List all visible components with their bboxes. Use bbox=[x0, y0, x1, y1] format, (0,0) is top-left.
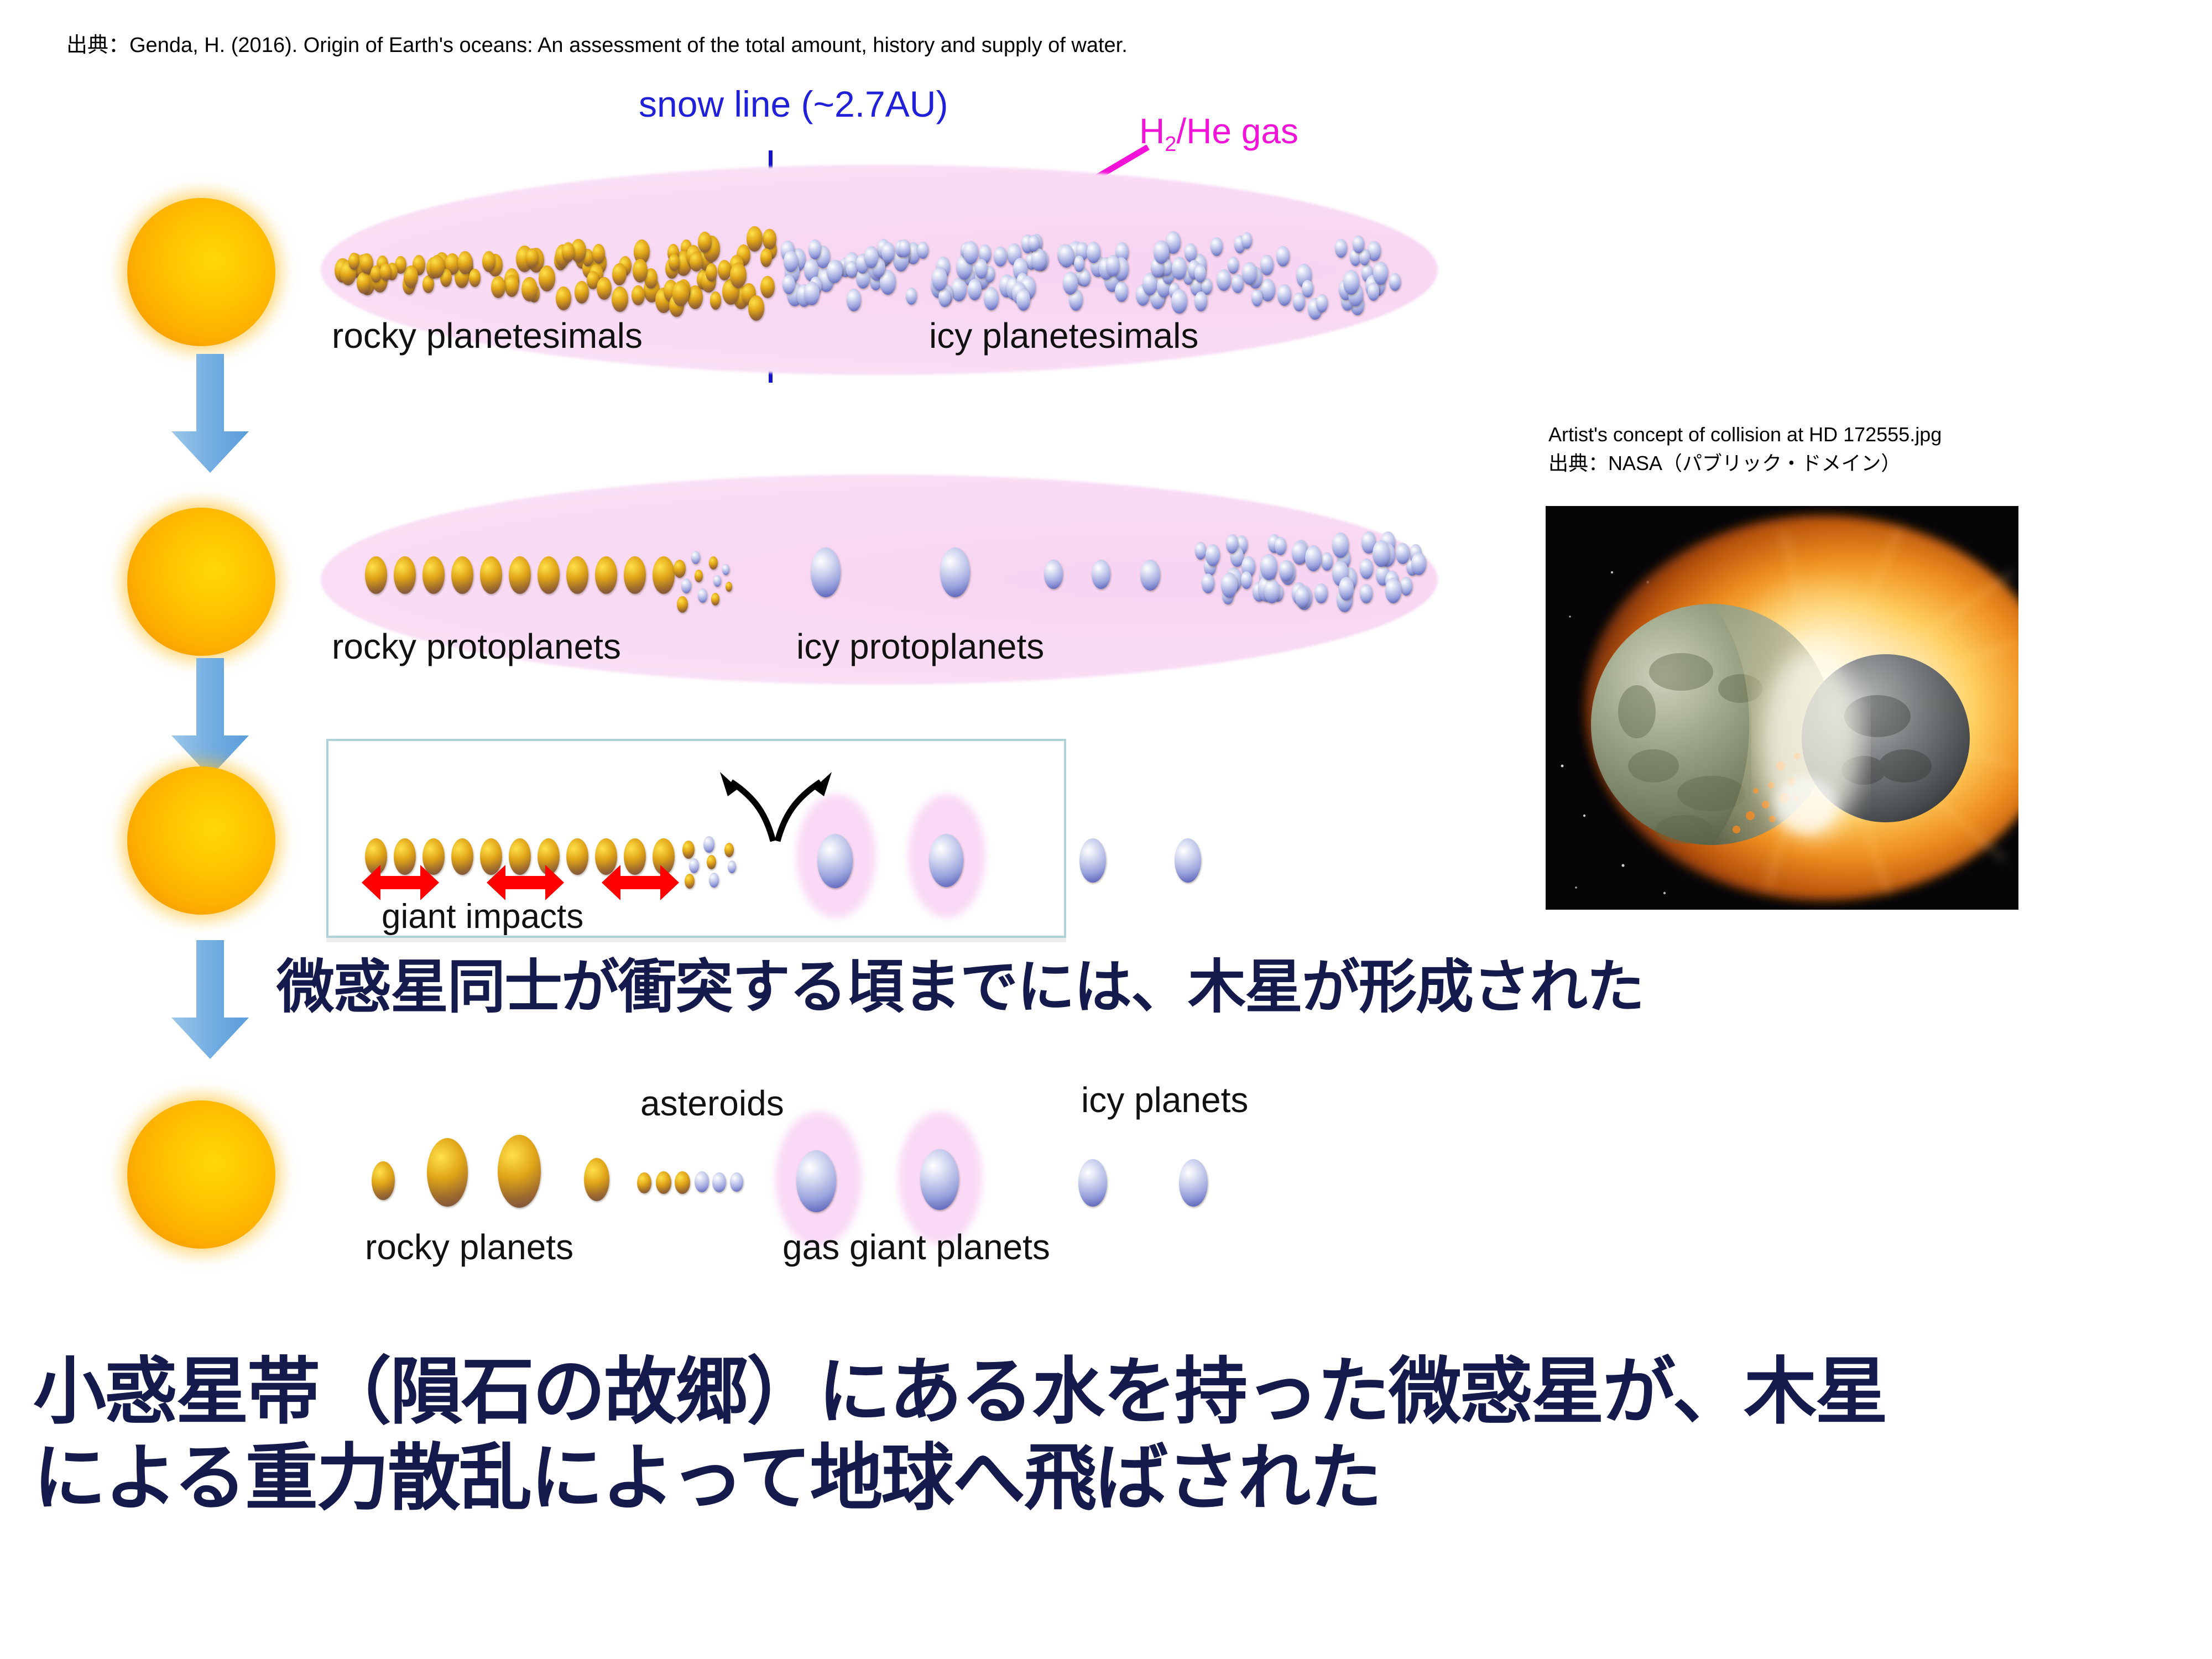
planetesimal-field-stage1 bbox=[0, 155, 1465, 387]
stage2-label-rocky: rocky protoplanets bbox=[332, 626, 621, 667]
icy-body bbox=[730, 1172, 743, 1192]
icy-body bbox=[728, 860, 736, 873]
rocky-body bbox=[710, 291, 722, 309]
icy-body bbox=[906, 288, 917, 305]
rocky-body bbox=[726, 582, 732, 592]
icy-body bbox=[975, 259, 988, 278]
annotation-bottom-line-1: 小惑星帯（隕石の故郷）にある水を持った微惑星が、木星 bbox=[33, 1349, 1886, 1436]
stage1-label-rocky: rocky planetesimals bbox=[332, 315, 643, 356]
stage-4: asteroids icy planets rocky planets gas … bbox=[0, 1040, 1465, 1277]
icy-body bbox=[1360, 584, 1373, 603]
icy-body bbox=[1385, 578, 1401, 603]
icy-body bbox=[1411, 552, 1426, 575]
rocky-body bbox=[526, 248, 538, 268]
icy-body bbox=[811, 547, 841, 597]
rocky-body bbox=[566, 556, 588, 594]
icy-body bbox=[695, 1171, 709, 1192]
rocky-body bbox=[747, 226, 763, 251]
icy-body bbox=[1276, 246, 1290, 267]
icy-body bbox=[1115, 281, 1128, 302]
icy-body bbox=[1175, 838, 1201, 883]
icy-body bbox=[1179, 1159, 1208, 1207]
nasa-collision-image bbox=[1546, 506, 2018, 910]
rocky-body bbox=[451, 556, 473, 594]
rocky-body bbox=[538, 556, 560, 594]
icy-body bbox=[827, 260, 842, 283]
stage-1: rocky planetesimals icy planetesimals bbox=[0, 155, 1465, 387]
rocky-body bbox=[730, 263, 747, 288]
rocky-body bbox=[633, 259, 648, 283]
icy-body bbox=[1251, 289, 1262, 306]
rocky-body bbox=[695, 570, 703, 582]
rocky-body bbox=[597, 277, 611, 300]
stage4-label-asteroids: asteroids bbox=[640, 1083, 784, 1124]
icy-body bbox=[1295, 586, 1309, 608]
rocky-body bbox=[760, 276, 775, 298]
rocky-body bbox=[718, 260, 731, 280]
rocky-body bbox=[674, 560, 686, 578]
rocky-body bbox=[430, 255, 445, 278]
gas-label: H2/He gas bbox=[1139, 111, 1298, 156]
stage-3: giant impacts bbox=[0, 730, 1465, 951]
icy-body bbox=[1079, 270, 1091, 286]
rocky-body bbox=[707, 855, 716, 869]
icy-body bbox=[1353, 236, 1364, 253]
rocky-body bbox=[427, 1138, 468, 1207]
rocky-body bbox=[562, 242, 575, 262]
rocky-body bbox=[365, 556, 387, 594]
icy-body bbox=[1373, 262, 1388, 284]
rocky-body bbox=[404, 265, 418, 288]
rocky-body bbox=[509, 556, 531, 594]
icy-body bbox=[1260, 279, 1275, 302]
rocky-body bbox=[458, 251, 473, 274]
icy-body bbox=[920, 1149, 959, 1210]
icy-body bbox=[681, 578, 691, 593]
rocky-body bbox=[372, 1161, 395, 1200]
icy-body bbox=[1228, 257, 1239, 274]
icy-body bbox=[1194, 291, 1207, 311]
rocky-body bbox=[677, 596, 688, 613]
rocky-body bbox=[491, 276, 505, 298]
icy-body bbox=[1063, 272, 1078, 295]
rocky-body bbox=[685, 874, 695, 889]
rocky-body bbox=[711, 593, 719, 606]
rocky-body bbox=[348, 253, 359, 270]
icy-body bbox=[1078, 1159, 1107, 1207]
icy-body bbox=[1140, 560, 1160, 591]
source-citation: 出典：Genda, H. (2016). Origin of Earth's o… bbox=[66, 28, 1128, 58]
rocky-body bbox=[521, 277, 537, 301]
stage4-label-icy-planets: icy planets bbox=[1081, 1079, 1248, 1120]
icy-body bbox=[1016, 289, 1030, 310]
icy-body bbox=[864, 246, 879, 268]
nasa-image-caption: Artist's concept of collision at HD 1725… bbox=[1548, 420, 1942, 478]
annotation-bottom: 小惑星帯（隕石の故郷）にある水を持った微惑星が、木星 による重力散乱によって地球… bbox=[33, 1349, 1886, 1522]
scatter-arrows-icon bbox=[691, 755, 857, 844]
rocky-body bbox=[595, 556, 617, 594]
icy-body bbox=[1092, 560, 1110, 589]
icy-body bbox=[1332, 533, 1349, 559]
icy-body bbox=[1206, 544, 1220, 566]
rocky-body bbox=[748, 295, 765, 321]
icy-body bbox=[984, 287, 999, 310]
icy-body bbox=[1241, 232, 1252, 249]
rocky-body bbox=[656, 1171, 671, 1194]
annotation-bottom-line-2: による重力散乱によって地球へ飛ばされた bbox=[33, 1436, 1886, 1522]
rocky-body bbox=[612, 286, 628, 312]
icy-body bbox=[1029, 235, 1039, 252]
icy-body bbox=[1074, 255, 1084, 272]
icy-body bbox=[713, 575, 721, 587]
icy-body bbox=[1217, 269, 1231, 291]
icy-body bbox=[1314, 583, 1328, 604]
icy-body bbox=[899, 239, 910, 257]
icy-body bbox=[951, 278, 967, 301]
icy-body bbox=[994, 247, 1007, 267]
rocky-body bbox=[584, 1158, 609, 1201]
nasa-caption-line-2: 出典：NASA（パブリック・ドメイン） bbox=[1548, 449, 1942, 478]
rocky-body bbox=[675, 1171, 690, 1194]
icy-body bbox=[1241, 571, 1252, 589]
rocky-body bbox=[480, 556, 502, 594]
rocky-body bbox=[763, 229, 776, 250]
icy-body bbox=[712, 1172, 726, 1192]
stage-transition-arrow-1 bbox=[166, 354, 254, 476]
icy-body bbox=[1339, 577, 1354, 601]
icy-body bbox=[1154, 241, 1169, 264]
icy-body bbox=[796, 1150, 836, 1212]
rocky-body bbox=[624, 556, 646, 594]
icy-body bbox=[1260, 554, 1277, 581]
giant-impact-arrow-3 bbox=[602, 862, 679, 904]
rocky-body bbox=[505, 275, 519, 297]
icy-body bbox=[1226, 534, 1238, 554]
icy-body bbox=[963, 241, 978, 264]
icy-body bbox=[1044, 560, 1063, 589]
stage4-label-rocky-planets: rocky planets bbox=[365, 1227, 573, 1267]
rocky-body bbox=[612, 263, 627, 285]
icy-body bbox=[808, 239, 821, 259]
rocky-body bbox=[760, 248, 773, 267]
icy-body bbox=[1373, 540, 1390, 566]
rocky-body bbox=[539, 265, 555, 291]
rocky-body bbox=[637, 1172, 651, 1193]
icy-body bbox=[1171, 289, 1187, 314]
nasa-caption-line-1: Artist's concept of collision at HD 1725… bbox=[1548, 420, 1942, 449]
rocky-body bbox=[592, 244, 605, 264]
snow-line-label: snow line (~2.7AU) bbox=[639, 83, 948, 125]
icy-body bbox=[722, 564, 729, 575]
rocky-body bbox=[469, 269, 481, 287]
icy-body bbox=[1275, 537, 1286, 555]
icy-body bbox=[1305, 545, 1322, 571]
icy-body bbox=[804, 281, 820, 305]
icy-body bbox=[784, 251, 798, 273]
rocky-body bbox=[672, 281, 689, 307]
icy-body bbox=[1302, 280, 1313, 298]
rocky-body bbox=[690, 252, 702, 272]
icy-body bbox=[1211, 237, 1223, 257]
icy-body bbox=[847, 289, 862, 311]
rocky-body bbox=[709, 556, 718, 570]
gas-label-tail: /He gas bbox=[1176, 111, 1298, 151]
icy-body bbox=[1368, 283, 1379, 301]
icy-body bbox=[817, 834, 853, 888]
icy-body bbox=[1360, 559, 1373, 579]
icy-body bbox=[1242, 262, 1257, 285]
stage4-label-gas-giants: gas giant planets bbox=[782, 1227, 1050, 1267]
rocky-body bbox=[422, 556, 445, 594]
icy-body bbox=[709, 873, 719, 888]
icy-body bbox=[1221, 572, 1238, 598]
icy-body bbox=[1400, 577, 1412, 596]
rocky-body bbox=[575, 281, 589, 303]
icy-body bbox=[1279, 560, 1293, 581]
rocky-body bbox=[653, 556, 675, 594]
rocky-body bbox=[380, 263, 392, 281]
icy-body bbox=[1172, 257, 1187, 280]
icy-body bbox=[1316, 294, 1328, 312]
rocky-body bbox=[498, 1135, 541, 1208]
rocky-body bbox=[724, 843, 734, 857]
rocky-body bbox=[566, 838, 588, 875]
gas-label-subscript: 2 bbox=[1165, 133, 1176, 156]
icy-body bbox=[698, 588, 707, 603]
icy-body bbox=[1031, 248, 1046, 271]
rocky-body bbox=[451, 838, 473, 875]
stage1-label-icy: icy planetesimals bbox=[929, 315, 1198, 356]
annotation-middle: 微惑星同士が衝突する頃までには、木星が形成された bbox=[276, 940, 1644, 1024]
rocky-body bbox=[556, 286, 571, 310]
icy-body bbox=[917, 242, 928, 259]
icy-body bbox=[1260, 255, 1274, 275]
icy-body bbox=[1059, 244, 1074, 268]
icy-body bbox=[1194, 264, 1206, 283]
planet-field-stage4 bbox=[0, 1040, 1465, 1277]
stage3-label-giant-impacts: giant impacts bbox=[382, 897, 583, 936]
icy-body bbox=[1079, 838, 1106, 883]
icy-body bbox=[1396, 543, 1409, 564]
icy-body bbox=[1195, 542, 1206, 559]
icy-body bbox=[929, 834, 963, 887]
rocky-body bbox=[394, 556, 416, 594]
icy-body bbox=[1321, 552, 1333, 571]
icy-body bbox=[1343, 270, 1359, 294]
stage2-label-icy: icy protoplanets bbox=[796, 626, 1044, 667]
icy-body bbox=[1277, 284, 1291, 305]
rocky-body bbox=[357, 272, 371, 294]
icy-body bbox=[1202, 573, 1214, 593]
icy-body bbox=[968, 279, 982, 300]
rocky-body bbox=[698, 232, 712, 253]
icy-body bbox=[940, 547, 970, 597]
icy-body bbox=[691, 551, 700, 564]
icy-body bbox=[1389, 273, 1401, 291]
rocky-body bbox=[632, 285, 645, 306]
icy-body bbox=[689, 858, 699, 873]
icy-body bbox=[1335, 239, 1347, 258]
icy-body bbox=[846, 261, 857, 278]
